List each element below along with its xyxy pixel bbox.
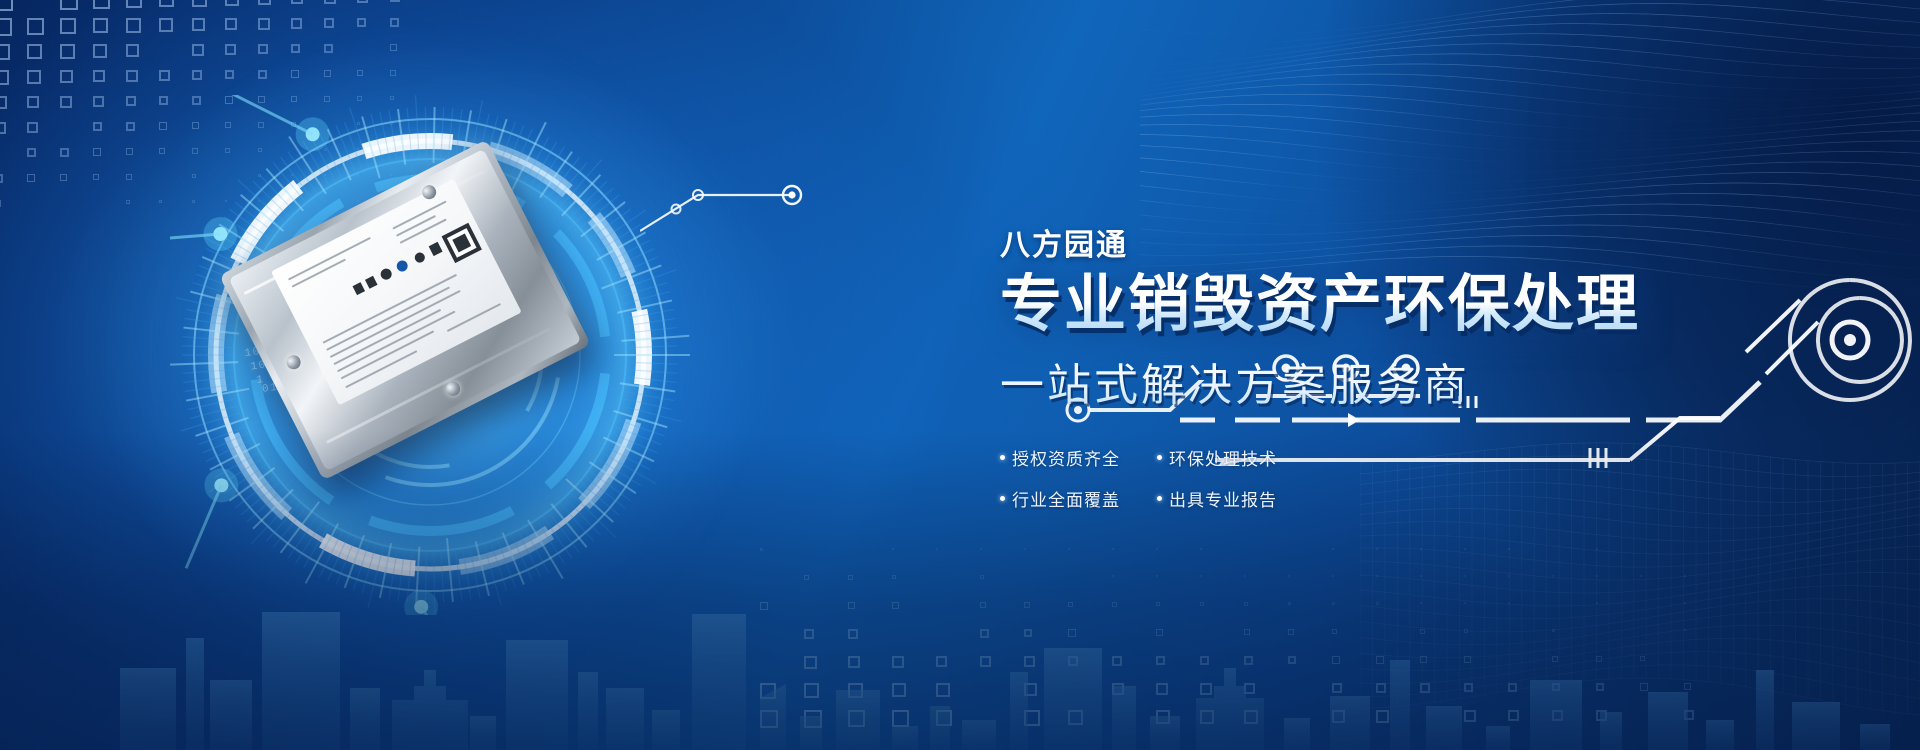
grid-square [291, 0, 303, 4]
grid-square [60, 148, 69, 157]
feature-list: 授权资质齐全 环保处理技术 行业全面覆盖 出具专业报告 [1000, 445, 1320, 511]
grid-square [27, 174, 35, 182]
grid-square [93, 174, 99, 180]
grid-square [0, 122, 6, 134]
grid-square [225, 0, 239, 6]
grid-square [27, 18, 44, 35]
bullet-dot-icon [1157, 455, 1162, 460]
grid-square [0, 70, 9, 85]
subheadline: 一站式解决方案服务商 [1000, 349, 1700, 413]
grid-square [27, 96, 39, 108]
grid-square [93, 0, 110, 9]
brand-name: 八方园通 [1000, 228, 1700, 264]
grid-square [27, 70, 41, 84]
grid-square [60, 70, 73, 83]
grid-square [0, 200, 1, 207]
feature-item-1: 授权资质齐全 [1000, 445, 1135, 470]
grid-square [126, 0, 142, 8]
pointer-connector-line [640, 175, 870, 235]
banner-copy-block: 八方园通 专业销毁资产环保处理 一站式解决方案服务商 授权资质齐全 环保处理技术… [1000, 228, 1700, 511]
grid-square [390, 0, 400, 2]
feature-label: 授权资质齐全 [1012, 445, 1120, 470]
promo-banner: 1001 0010 1001 100 10 0 1011 0010 11 1 0… [0, 0, 1920, 750]
bullet-dot-icon [1000, 496, 1005, 501]
grid-square [159, 0, 174, 7]
grid-square [0, 174, 3, 183]
grid-square [60, 44, 75, 59]
grid-square [0, 18, 12, 36]
grid-square [258, 0, 271, 5]
grid-square [60, 18, 76, 34]
feature-item-2: 环保处理技术 [1157, 445, 1292, 470]
grid-square [192, 0, 207, 7]
grid-square [60, 174, 67, 181]
bullet-dot-icon [1000, 455, 1005, 460]
grid-square [27, 44, 42, 59]
grid-square [357, 0, 368, 3]
headline: 专业销毁资产环保处理 [1000, 272, 1700, 339]
grid-square [0, 44, 10, 60]
grid-square [60, 96, 72, 108]
grid-square [60, 0, 78, 10]
bullet-dot-icon [1157, 496, 1162, 501]
feature-item-4: 出具专业报告 [1157, 486, 1292, 511]
grid-square [27, 122, 38, 133]
feature-label: 出具专业报告 [1169, 486, 1277, 511]
feature-label: 环保处理技术 [1169, 445, 1277, 470]
grid-square [0, 0, 13, 11]
feature-item-3: 行业全面覆盖 [1000, 486, 1135, 511]
grid-square [27, 148, 36, 157]
grid-square [324, 0, 336, 4]
grid-square [0, 96, 7, 109]
feature-label: 行业全面覆盖 [1012, 486, 1120, 511]
